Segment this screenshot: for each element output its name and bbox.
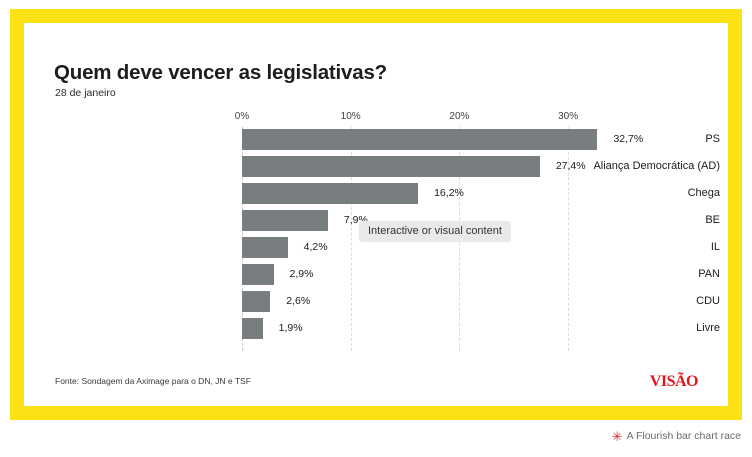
bar-row[interactable]: Chega16,2%: [24, 183, 728, 210]
bar-value-label: 32,7%: [613, 129, 643, 150]
x-axis-tick-label: 20%: [449, 111, 469, 122]
x-axis-tick-label: 30%: [558, 111, 578, 122]
bar-row[interactable]: Livre1,9%: [24, 318, 728, 345]
x-axis-tick-label: 0%: [235, 111, 249, 122]
interactive-content-tooltip: Interactive or visual content: [359, 221, 511, 242]
yellow-frame: Quem deve vencer as legislativas? 28 de …: [10, 9, 742, 420]
bar-value-label: 2,6%: [286, 291, 310, 312]
bar-value-label: 4,2%: [304, 237, 328, 258]
bar[interactable]: [242, 318, 263, 339]
bar-row[interactable]: PS32,7%: [24, 129, 728, 156]
chart-card: Quem deve vencer as legislativas? 28 de …: [24, 23, 728, 406]
bar-value-label: 27,4%: [556, 156, 586, 177]
bar-value-label: 16,2%: [434, 183, 464, 204]
bar-track: 27,4%: [242, 156, 728, 177]
flourish-credit[interactable]: ✳ A Flourish bar chart race: [612, 430, 741, 442]
x-axis-tick-label: 10%: [341, 111, 361, 122]
source-note: Fonte: Sondagem da Aximage para o DN, JN…: [55, 376, 251, 386]
chart-subtitle: 28 de janeiro: [55, 87, 116, 99]
page-title: Quem deve vencer as legislativas?: [54, 61, 387, 85]
bar-track: 16,2%: [242, 183, 728, 204]
bar[interactable]: [242, 237, 288, 258]
bar-row[interactable]: Aliança Democrática (AD)27,4%: [24, 156, 728, 183]
bar[interactable]: [242, 183, 418, 204]
bar[interactable]: [242, 156, 540, 177]
bar-track: 2,9%: [242, 264, 728, 285]
bar-track: 2,6%: [242, 291, 728, 312]
bar[interactable]: [242, 210, 328, 231]
flourish-credit-label: A Flourish bar chart race: [627, 430, 741, 442]
bar-value-label: 1,9%: [279, 318, 303, 339]
visao-logo: VISÃO: [650, 373, 698, 391]
bar-track: 1,9%: [242, 318, 728, 339]
bar[interactable]: [242, 291, 270, 312]
bar-row[interactable]: CDU2,6%: [24, 291, 728, 318]
bar[interactable]: [242, 129, 597, 150]
bar-track: 32,7%: [242, 129, 728, 150]
bar-row[interactable]: PAN2,9%: [24, 264, 728, 291]
flourish-burst-icon: ✳: [612, 431, 623, 442]
bar-value-label: 2,9%: [290, 264, 314, 285]
bar[interactable]: [242, 264, 274, 285]
